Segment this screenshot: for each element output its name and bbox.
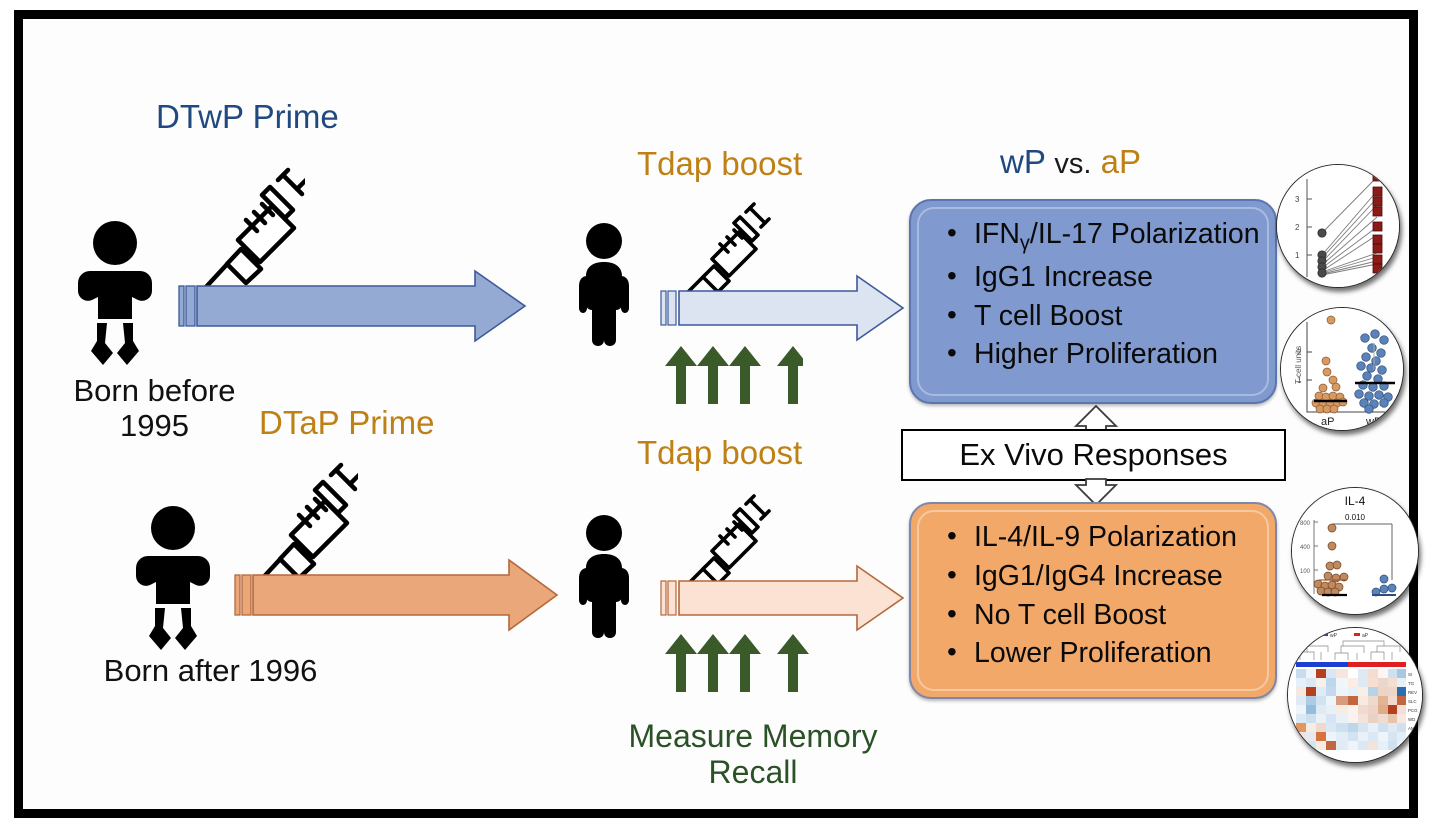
ap-outcome-2: No T cell Boost [947, 596, 1267, 635]
svg-text:T cell units: T cell units [1294, 346, 1303, 384]
label-ap: aP [1101, 143, 1141, 180]
svg-text:SI: SI [1408, 672, 1412, 677]
heading-tdap-boost-bottom: Tdap boost [637, 434, 802, 472]
arrow-dtwp-prime [175, 266, 528, 346]
svg-text:wP: wP [1330, 633, 1338, 639]
memory-recall-arrows-top [663, 344, 803, 409]
ap-outcome-1: IgG1/IgG4 Increase [947, 557, 1267, 596]
svg-text:AN: AN [1408, 726, 1414, 731]
wp-outcome-0: IFNγ/IL-17 Polarization [947, 215, 1267, 258]
adult-icon-top [563, 222, 645, 347]
measure-memory-recall-label: Measure Memory Recall [603, 719, 903, 791]
infant-icon-top [65, 219, 165, 369]
heading-wp-vs-ap: wP vs. aP [1000, 143, 1141, 181]
figure-canvas: DTwP Prime Born before 1995 [23, 19, 1409, 809]
svg-text:IL-4: IL-4 [1345, 494, 1366, 508]
infant-icon-bottom [123, 504, 223, 654]
label-wp: wP [1000, 143, 1045, 180]
thumbnail-il4-dotplot[interactable]: IL-4 0.010 800 400 100 [1291, 487, 1419, 615]
wp-outcome-1: IgG1 Increase [947, 258, 1267, 297]
wp-outcomes-box: IFNγ/IL-17 Polarization IgG1 Increase T … [909, 199, 1277, 404]
svg-text:100: 100 [1300, 569, 1311, 575]
svg-text:0.010: 0.010 [1345, 513, 1366, 522]
svg-text:WD: WD [1408, 717, 1415, 722]
svg-text:1: 1 [1295, 251, 1300, 260]
svg-text:aP: aP [1321, 416, 1334, 428]
arrow-dtap-prime [231, 556, 561, 634]
heading-dtwp-prime: DTwP Prime [156, 98, 339, 136]
arrow-tdap-boost-top [657, 272, 907, 344]
wp-outcome-2: T cell Boost [947, 297, 1267, 336]
ap-outcome-0: IL-4/IL-9 Polarization [947, 518, 1267, 557]
wp-outcome-3: Higher Proliferation [947, 335, 1267, 374]
ex-vivo-responses-box: Ex Vivo Responses [901, 429, 1286, 481]
svg-text:C: C [1408, 744, 1411, 749]
wp-outcomes-list: IFNγ/IL-17 Polarization IgG1 Increase T … [947, 215, 1267, 374]
svg-text:IL: IL [1408, 735, 1412, 740]
svg-text:PCG: PCG [1408, 708, 1418, 713]
svg-text:400: 400 [1300, 545, 1311, 551]
svg-text:SLC: SLC [1408, 699, 1417, 704]
svg-text:3: 3 [1295, 195, 1300, 204]
thumbnail-clustered-heatmap[interactable]: wP aP [1287, 627, 1423, 763]
ap-outcomes-list: IL-4/IL-9 Polarization IgG1/IgG4 Increas… [947, 518, 1267, 673]
heading-dtap-prime: DTaP Prime [259, 404, 434, 442]
svg-text:TG: TG [1408, 681, 1415, 686]
memory-recall-arrows-bottom [663, 632, 813, 697]
svg-text:800: 800 [1300, 521, 1311, 527]
ap-outcomes-box: IL-4/IL-9 Polarization IgG1/IgG4 Increas… [909, 502, 1277, 699]
arrow-tdap-boost-bottom [657, 562, 907, 634]
svg-text:wP: wP [1365, 416, 1381, 428]
ap-outcome-3: Lower Proliferation [947, 634, 1267, 673]
cohort-label-born-after-1996: Born after 1996 [103, 654, 318, 689]
svg-text:2: 2 [1295, 223, 1300, 232]
figure-frame: DTwP Prime Born before 1995 [14, 10, 1418, 818]
adult-icon-bottom [563, 514, 645, 639]
label-vs: vs. [1054, 148, 1091, 180]
cohort-label-born-before-1995: Born before 1995 [47, 374, 262, 443]
svg-text:aP: aP [1362, 633, 1369, 639]
ex-vivo-label: Ex Vivo Responses [959, 437, 1227, 473]
thumbnail-paired-slope-plot[interactable]: 3 2 1 [1276, 164, 1400, 288]
svg-text:REV: REV [1408, 690, 1417, 695]
thumbnail-ap-vs-wp-dotplot[interactable]: 2 1 T cell units [1280, 307, 1404, 431]
heading-tdap-boost-top: Tdap boost [637, 145, 802, 183]
